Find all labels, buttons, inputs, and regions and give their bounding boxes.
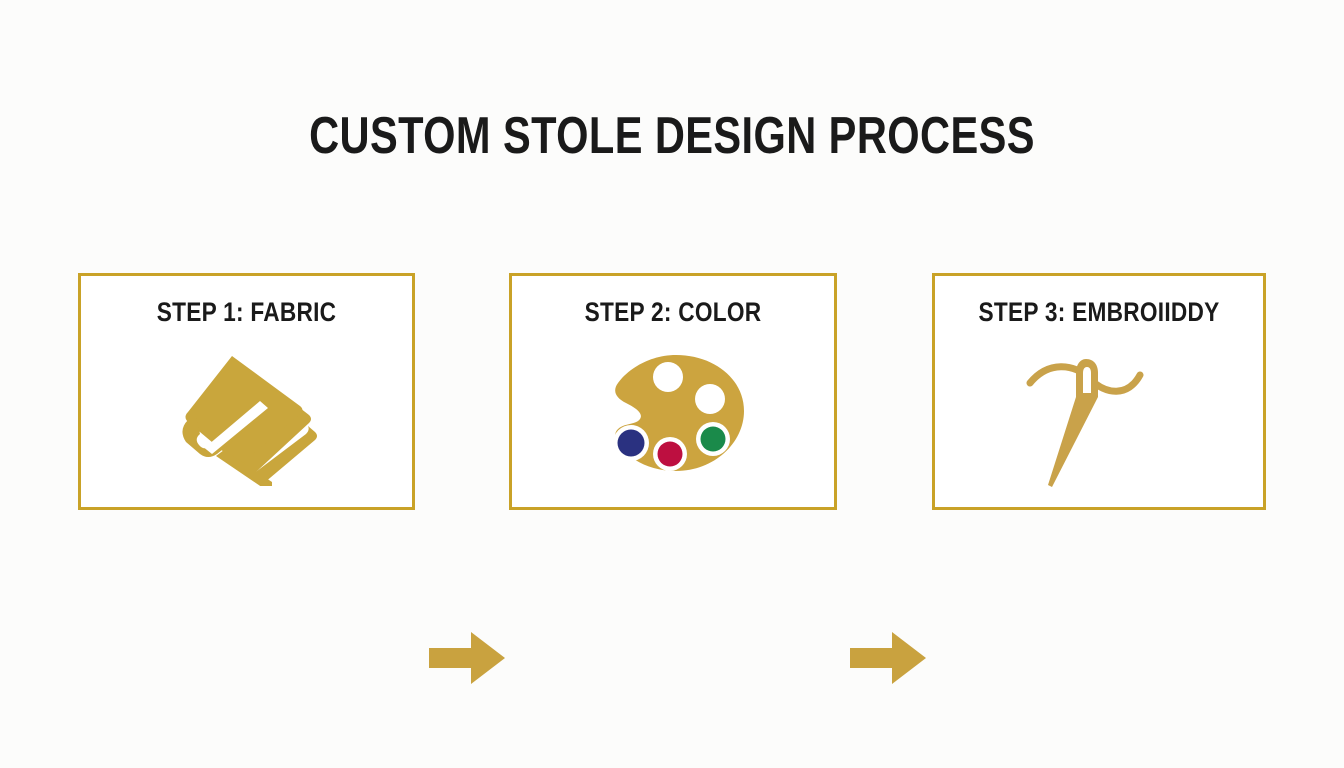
arrow-step2-to-step3	[850, 630, 926, 686]
page-title: CUSTOM STOLE DESIGN PROCESS	[134, 105, 1209, 167]
step-label-embroidery: STEP 3: EMBROIIDDY	[961, 296, 1237, 328]
step-card-fabric[interactable]: STEP 1: FABRIC	[78, 273, 415, 510]
step-icon-wrapper-fabric	[81, 338, 412, 498]
needle-and-thread-icon	[1024, 341, 1174, 496]
step-icon-wrapper-embroidery	[935, 338, 1263, 498]
step-label-fabric: STEP 1: FABRIC	[107, 296, 385, 328]
paint-palette-icon	[598, 351, 748, 486]
process-flow: STEP 1: FABRIC	[0, 273, 1344, 513]
arrow-step1-to-step2	[429, 630, 505, 686]
step-label-color: STEP 2: COLOR	[538, 296, 808, 328]
folded-fabric-icon	[172, 346, 322, 491]
step-icon-wrapper-color	[512, 338, 834, 498]
step-card-color[interactable]: STEP 2: COLOR	[509, 273, 837, 510]
step-card-embroidery[interactable]: STEP 3: EMBROIIDDY	[932, 273, 1266, 510]
